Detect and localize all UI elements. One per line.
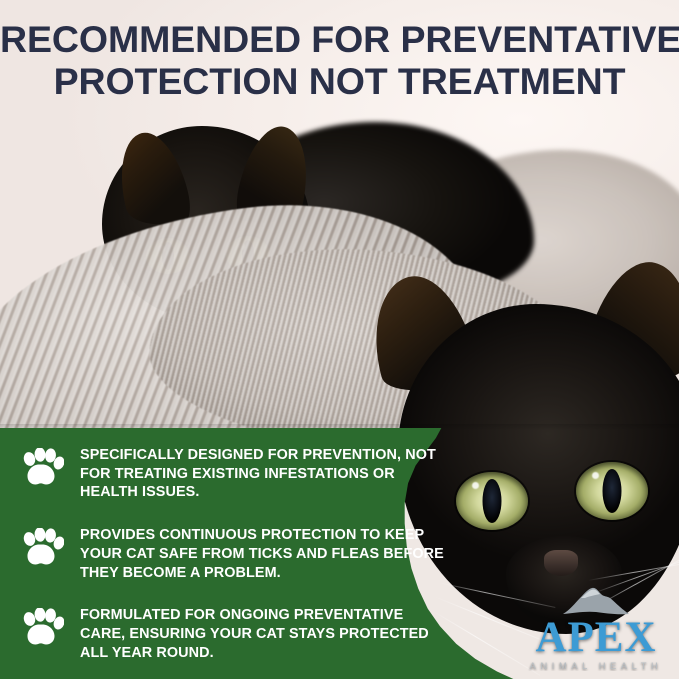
brand-logo: APEX ANIMAL HEALTH <box>521 583 671 671</box>
list-item: SPECIFICALLY DESIGNED FOR PREVENTION, NO… <box>0 446 470 502</box>
paw-print-icon <box>20 528 64 570</box>
list-item-text: PROVIDES CONTINUOUS PROTECTION TO KEEP Y… <box>80 526 448 582</box>
cat-top-ear-left <box>109 126 194 235</box>
list-item: FORMULATED FOR ONGOING PREVENTATIVE CARE… <box>0 606 470 662</box>
logo-tagline: ANIMAL HEALTH <box>521 661 671 671</box>
list-item: PROVIDES CONTINUOUS PROTECTION TO KEEP Y… <box>0 526 470 582</box>
infographic-root: RECOMMENDED FOR PREVENTATIVE PROTECTION … <box>0 0 679 679</box>
list-item-text: SPECIFICALLY DESIGNED FOR PREVENTION, NO… <box>80 446 448 502</box>
paw-print-icon <box>20 608 64 650</box>
benefits-list: SPECIFICALLY DESIGNED FOR PREVENTION, NO… <box>0 446 470 679</box>
headline-line-1: RECOMMENDED FOR PREVENTATIVE <box>0 18 679 60</box>
headline-line-2: PROTECTION NOT TREATMENT <box>0 60 679 102</box>
cat-bottom-pupil-left <box>483 479 502 523</box>
logo-wordmark: APEX <box>521 618 671 659</box>
paw-print-icon <box>20 448 64 490</box>
cat-bottom-pupil-right <box>603 469 622 513</box>
cat-bottom-nose <box>544 550 578 576</box>
list-item-text: FORMULATED FOR ONGOING PREVENTATIVE CARE… <box>80 606 448 662</box>
headline: RECOMMENDED FOR PREVENTATIVE PROTECTION … <box>0 18 679 102</box>
cat-bottom-eye-right <box>576 462 648 520</box>
mountain-icon <box>561 583 631 617</box>
